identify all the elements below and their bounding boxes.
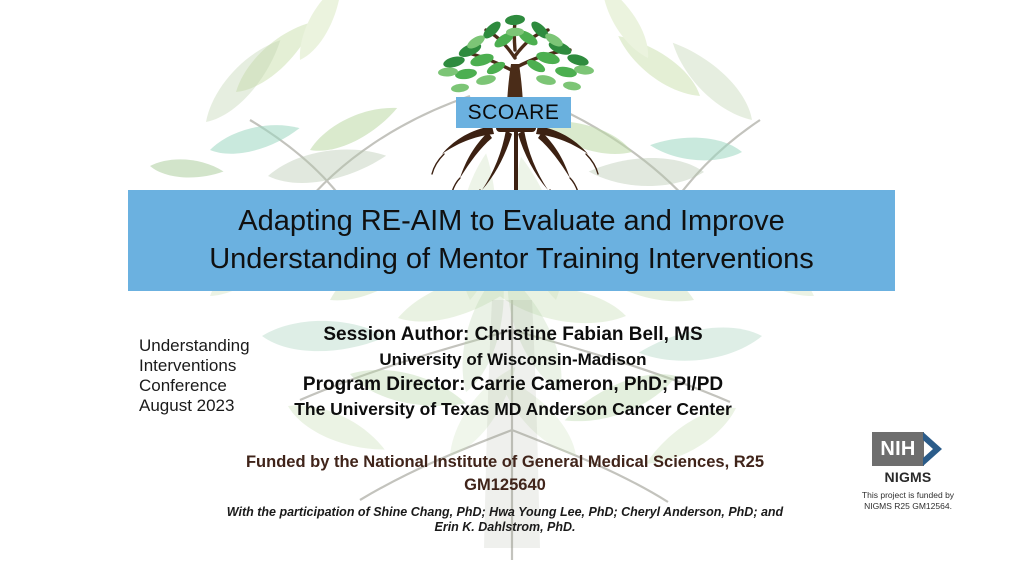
nih-funding-caption-line-2: NIGMS R25 GM12564. — [828, 501, 988, 512]
program-director: Program Director: Carrie Cameron, PhD; P… — [258, 372, 768, 398]
session-author: Session Author: Christine Fabian Bell, M… — [258, 322, 768, 348]
slide-title-line-2: Understanding of Mentor Training Interve… — [209, 241, 814, 278]
nih-logo-box: NIH — [872, 432, 924, 466]
nih-logo-text: NIH — [880, 439, 915, 459]
funding-line-1: Funded by the National Institute of Gene… — [180, 451, 830, 474]
participation-line-2: Erin K. Dahlstrom, PhD. — [180, 520, 830, 535]
participation-line-1: With the participation of Shine Chang, P… — [180, 505, 830, 520]
nih-funding-caption: This project is funded by NIGMS R25 GM12… — [828, 490, 988, 512]
nih-nigms-logo: NIH NIGMS This project is funded by NIGM… — [828, 432, 988, 512]
session-author-affiliation: University of Wisconsin-Madison — [258, 348, 768, 372]
nih-funding-caption-line-1: This project is funded by — [828, 490, 988, 501]
funding-grant-number: GM125640 — [180, 474, 830, 497]
nigms-institute-label: NIGMS — [828, 469, 988, 485]
scoare-logo-label: SCOARE — [468, 102, 560, 123]
program-director-affiliation: The University of Texas MD Anderson Canc… — [258, 397, 768, 422]
scoare-logo-banner: SCOARE — [456, 97, 571, 128]
slide-title-line-1: Adapting RE-AIM to Evaluate and Improve — [238, 203, 784, 240]
funding-statement: Funded by the National Institute of Gene… — [180, 451, 830, 534]
nih-logo-mark: NIH — [872, 432, 944, 466]
presentation-slide: SCOARE Adapting RE-AIM to Evaluate and I… — [0, 0, 1024, 576]
nih-chevron-icon — [922, 432, 944, 466]
author-credits: Session Author: Christine Fabian Bell, M… — [258, 322, 768, 422]
slide-title-band: Adapting RE-AIM to Evaluate and Improve … — [128, 190, 895, 291]
